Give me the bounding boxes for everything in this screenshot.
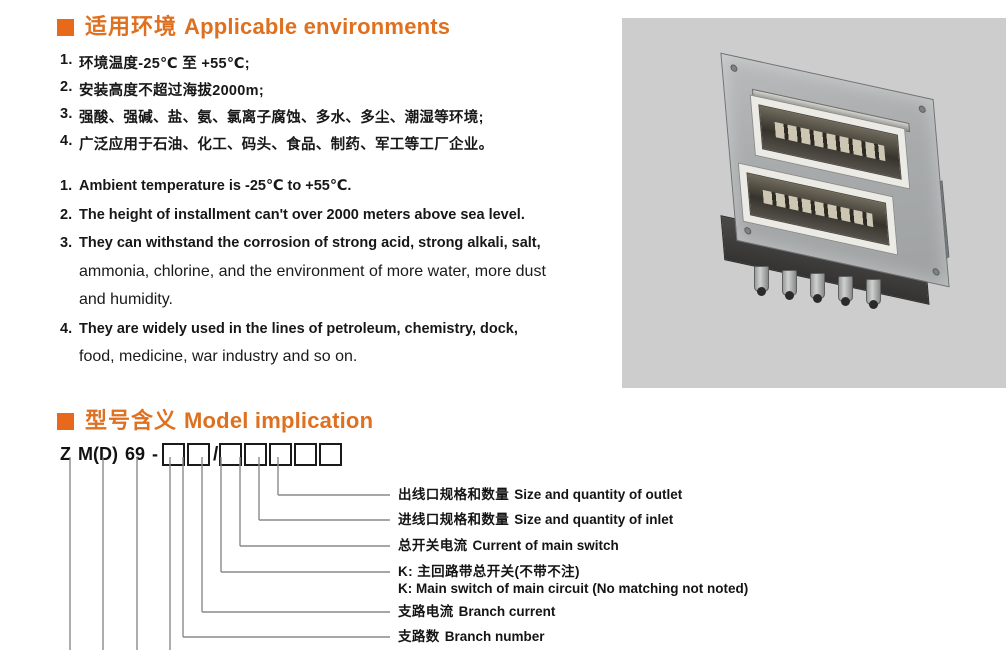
list-item-number: 3. (60, 229, 79, 258)
heading-english: Applicable environments (184, 14, 450, 39)
list-item-text: 广泛应用于石油、化工、码头、食品、制药、军工等工厂企业。 (79, 133, 493, 154)
list-item-text: 安装高度不超过海拔2000m; (79, 79, 493, 100)
distribution-box-illustration (714, 70, 964, 320)
list-item: 1.Ambient temperature is -25℃ to +55℃. (60, 172, 546, 201)
screw-icon (918, 105, 926, 114)
callout-label: 进线口规格和数量Size and quantity of inlet (398, 511, 673, 528)
chinese-spec-list: 1.环境温度-25℃ 至 +55℃;2.安装高度不超过海拔2000m;3.强酸、… (60, 52, 493, 160)
cable-gland-icon (838, 276, 853, 302)
callout-label: K: 主回路带总开关(不带不注)K: Main switch of main c… (398, 563, 748, 597)
list-item-number: 4. (60, 133, 79, 149)
callout-english: Size and quantity of outlet (514, 487, 682, 502)
list-item-first-line: 3.They can withstand the corrosion of st… (60, 229, 546, 258)
section-heading-environments: 适用环境Applicable environments (57, 16, 450, 38)
callout-chinese: 进线口规格和数量 (398, 512, 509, 527)
list-item-text: 环境温度-25℃ 至 +55℃; (79, 52, 493, 73)
list-item-text: The height of installment can't over 200… (79, 201, 546, 230)
english-spec-list: 1.Ambient temperature is -25℃ to +55℃.2.… (60, 172, 546, 372)
callout-english-subline: K: Main switch of main circuit (No match… (398, 580, 748, 597)
list-item-number: 2. (60, 79, 79, 95)
list-item-text: They are widely used in the lines of pet… (79, 315, 546, 344)
list-item-text: Ambient temperature is -25℃ to +55℃. (79, 172, 546, 201)
list-item: 2.The height of installment can't over 2… (60, 201, 546, 230)
section-heading-text: 适用环境Applicable environments (85, 16, 450, 38)
list-item-number: 1. (60, 52, 79, 68)
heading-english: Model implication (184, 408, 373, 433)
callout-label: 支路数Branch number (398, 628, 544, 645)
list-item: 4.广泛应用于石油、化工、码头、食品、制药、军工等工厂企业。 (60, 133, 493, 160)
cable-gland-icon (810, 273, 825, 299)
product-photo (622, 18, 1006, 388)
breaker-row (774, 122, 885, 161)
orange-square-marker-icon (57, 413, 74, 430)
list-item-text: They can withstand the corrosion of stro… (79, 229, 546, 258)
section-heading-model: 型号含义Model implication (57, 410, 373, 432)
list-item-text: 强酸、强碱、盐、氨、氯离子腐蚀、多水、多尘、潮湿等环境; (79, 106, 493, 127)
list-item-first-line: 1.Ambient temperature is -25℃ to +55℃. (60, 172, 546, 201)
callout-chinese: 出线口规格和数量 (398, 487, 509, 502)
list-item-first-line: 2.The height of installment can't over 2… (60, 201, 546, 230)
list-item-number: 2. (60, 201, 79, 230)
screw-icon (744, 226, 752, 235)
callout-english: Branch current (459, 604, 556, 619)
breaker-row (762, 190, 873, 228)
list-item-number: 3. (60, 106, 79, 122)
list-item: 2.安装高度不超过海拔2000m; (60, 79, 493, 106)
callout-chinese: 总开关电流 (398, 538, 468, 553)
section-heading-text: 型号含义Model implication (85, 410, 373, 432)
callout-chinese: 支路电流 (398, 604, 454, 619)
screw-icon (730, 64, 738, 73)
list-item: 3.强酸、强碱、盐、氨、氯离子腐蚀、多水、多尘、潮湿等环境; (60, 106, 493, 133)
list-item: 3.They can withstand the corrosion of st… (60, 229, 546, 315)
cable-gland-icon (754, 266, 769, 292)
screw-icon (932, 268, 940, 277)
cable-gland-icon (866, 279, 881, 305)
callout-english: Size and quantity of inlet (514, 512, 673, 527)
callout-chinese: K: 主回路带总开关(不带不注) (398, 564, 580, 579)
list-item-continuation: and humidity. (60, 286, 546, 315)
heading-chinese: 型号含义 (85, 408, 177, 433)
orange-square-marker-icon (57, 19, 74, 36)
callout-label: 支路电流Branch current (398, 603, 555, 620)
list-item-number: 1. (60, 172, 79, 201)
list-item: 1.环境温度-25℃ 至 +55℃; (60, 52, 493, 79)
list-item-continuation: food, medicine, war industry and so on. (60, 343, 546, 372)
list-item-continuation: ammonia, chlorine, and the environment o… (60, 258, 546, 287)
callout-label: 出线口规格和数量Size and quantity of outlet (398, 486, 682, 503)
callout-english: Branch number (445, 629, 545, 644)
callout-label: 总开关电流Current of main switch (398, 537, 619, 554)
callout-english: Current of main switch (473, 538, 619, 553)
callout-chinese: 支路数 (398, 629, 440, 644)
list-item: 4.They are widely used in the lines of p… (60, 315, 546, 372)
cable-gland-icon (782, 270, 797, 296)
list-item-first-line: 4.They are widely used in the lines of p… (60, 315, 546, 344)
heading-chinese: 适用环境 (85, 14, 177, 39)
list-item-number: 4. (60, 315, 79, 344)
